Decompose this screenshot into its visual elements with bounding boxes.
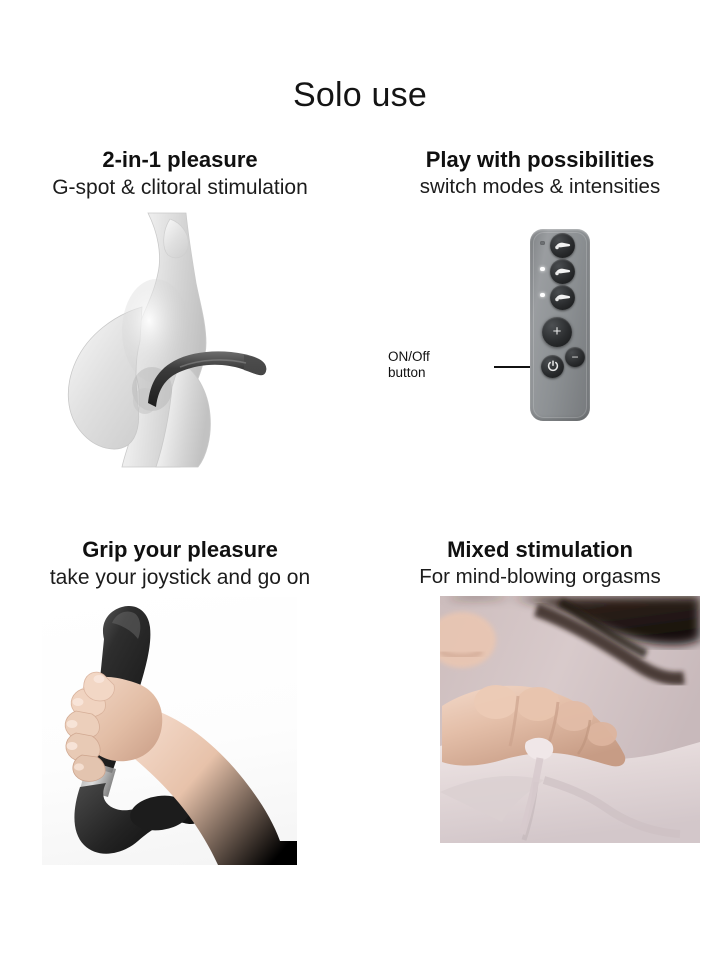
minus-icon: − — [571, 351, 578, 363]
panel-heading: Mixed stimulation — [360, 538, 720, 563]
plus-icon: + — [553, 324, 562, 339]
panel-mixed-stimulation: Mixed stimulation For mind-blowing orgas… — [360, 538, 720, 928]
knuckle-1 — [474, 685, 518, 719]
panel-subtitle: take your joystick and go on — [0, 566, 360, 590]
panel-subtitle: For mind-blowing orgasms — [360, 566, 720, 589]
page-title: Solo use — [0, 78, 720, 112]
panel-media: + − ON/Off button — [360, 211, 720, 511]
panel-play-with-possibilities: Play with possibilities switch modes & i… — [360, 148, 720, 538]
product-tip-shape — [244, 355, 266, 375]
product-shape-icon — [554, 266, 571, 276]
panel-heading: 2-in-1 pleasure — [0, 148, 360, 173]
power-icon — [547, 360, 559, 372]
fingernail-3 — [67, 742, 78, 750]
power-button[interactable] — [541, 355, 564, 378]
knuckle-3 — [555, 701, 593, 731]
callout-line-1: ON/Off — [388, 349, 484, 365]
led-indicator-3 — [540, 293, 545, 298]
power-button-callout: ON/Off button — [388, 349, 484, 381]
panel-media — [360, 601, 720, 901]
intensity-increase-button[interactable]: + — [542, 317, 572, 347]
callout-line-2: button — [388, 365, 484, 381]
knuckle-2 — [516, 687, 560, 721]
led-indicator-2 — [540, 267, 545, 272]
fingernail-2 — [67, 720, 78, 728]
panel-heading: Play with possibilities — [360, 148, 720, 173]
panel-media — [0, 211, 360, 511]
thumbnail — [94, 675, 105, 683]
hand-holding-product-photo — [42, 597, 297, 865]
mode-button-3[interactable] — [550, 285, 575, 310]
fingernail-1 — [73, 698, 84, 706]
panel-subtitle: switch modes & intensities — [360, 176, 720, 199]
led-indicator-1 — [540, 241, 545, 246]
hand-gripping-bedsheet-photo — [440, 596, 700, 843]
knuckle-4 — [587, 722, 617, 746]
panel-subtitle: G-spot & clitoral stimulation — [0, 176, 360, 200]
callout-leader-line — [494, 366, 530, 368]
mode-button-1[interactable] — [550, 233, 575, 258]
remote-control-illustration: + − ON/Off button — [360, 211, 720, 511]
anatomical-render-illustration — [30, 211, 330, 471]
panel-grip-your-pleasure: Grip your pleasure take your joystick an… — [0, 538, 360, 928]
product-shape-icon — [554, 292, 571, 302]
panel-heading: Grip your pleasure — [0, 538, 360, 563]
panel-media — [0, 601, 360, 901]
panel-two-in-one-pleasure: 2-in-1 pleasure G-spot & clitoral stimul… — [0, 148, 360, 538]
feature-grid: 2-in-1 pleasure G-spot & clitoral stimul… — [0, 148, 720, 948]
product-shape-icon — [554, 240, 571, 250]
fingernail-4 — [74, 764, 84, 771]
bedsheet-scene-illustration — [440, 596, 700, 843]
mode-button-2[interactable] — [550, 259, 575, 284]
product-in-hand-illustration — [42, 597, 297, 865]
intensity-decrease-button[interactable]: − — [565, 347, 585, 367]
